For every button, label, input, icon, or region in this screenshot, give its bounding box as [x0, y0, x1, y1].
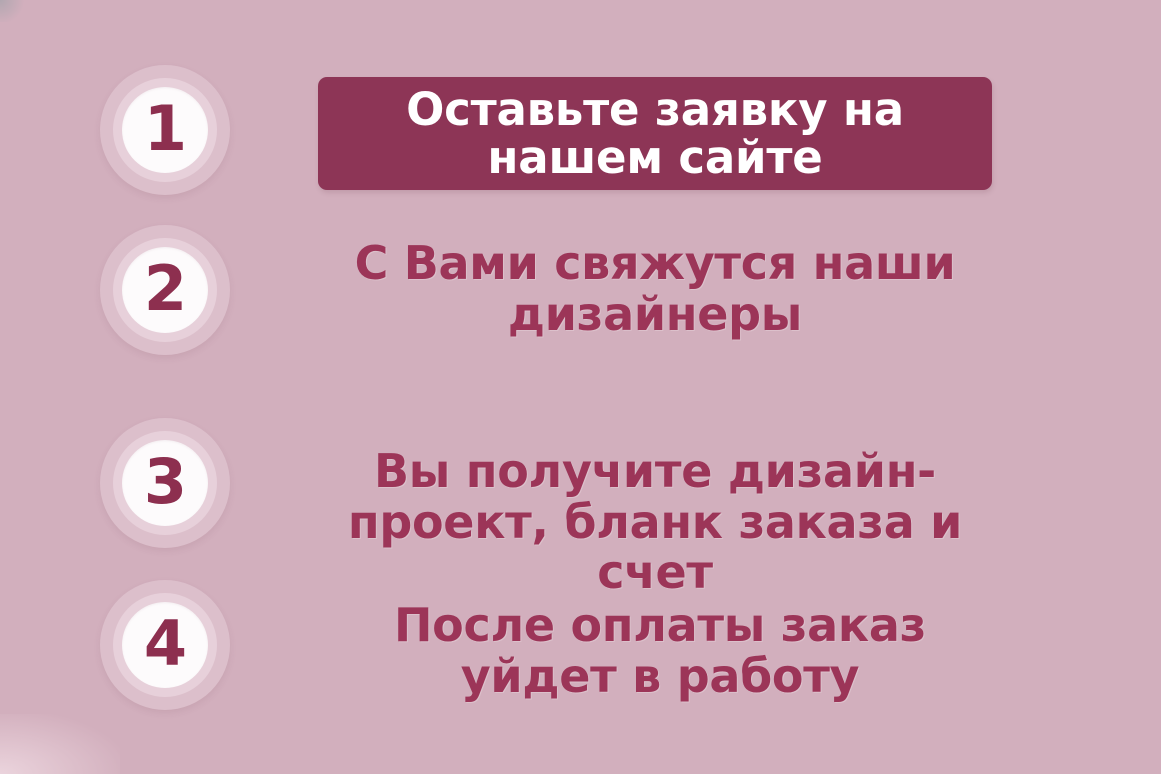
- step-number-2: 2: [144, 258, 186, 320]
- step-number-1: 1: [144, 98, 186, 160]
- badge-mid-ring-4: 4: [113, 593, 217, 697]
- badge-mid-ring-3: 3: [113, 431, 217, 535]
- corner-tint-bottom-left: [0, 714, 120, 774]
- badge-mid-ring-2: 2: [113, 238, 217, 342]
- step-label-4: После оплаты заказ уйдет в работу: [310, 600, 1010, 701]
- step-number-4: 4: [144, 613, 186, 675]
- corner-tint-top-left: [0, 0, 26, 22]
- step-number-badge-2: 2: [100, 225, 230, 355]
- step-label-1: Оставьте заявку на нашем сайте: [318, 86, 992, 181]
- badge-inner-circle-4: 4: [122, 602, 208, 688]
- steps-infographic: 1 Оставьте заявку на нашем сайте 2 С Вам…: [0, 0, 1161, 774]
- badge-inner-circle-3: 3: [122, 440, 208, 526]
- step-label-2: С Вами свяжутся наши дизайнеры: [318, 238, 992, 339]
- step-number-3: 3: [144, 451, 186, 513]
- badge-inner-circle-2: 2: [122, 247, 208, 333]
- step-label-3: Вы получите дизайн-проект, бланк заказа …: [290, 446, 1020, 598]
- step-number-badge-4: 4: [100, 580, 230, 710]
- badge-inner-circle-1: 1: [122, 87, 208, 173]
- step-number-badge-1: 1: [100, 65, 230, 195]
- step-number-badge-3: 3: [100, 418, 230, 548]
- badge-mid-ring-1: 1: [113, 78, 217, 182]
- step-banner-1[interactable]: Оставьте заявку на нашем сайте: [318, 77, 992, 190]
